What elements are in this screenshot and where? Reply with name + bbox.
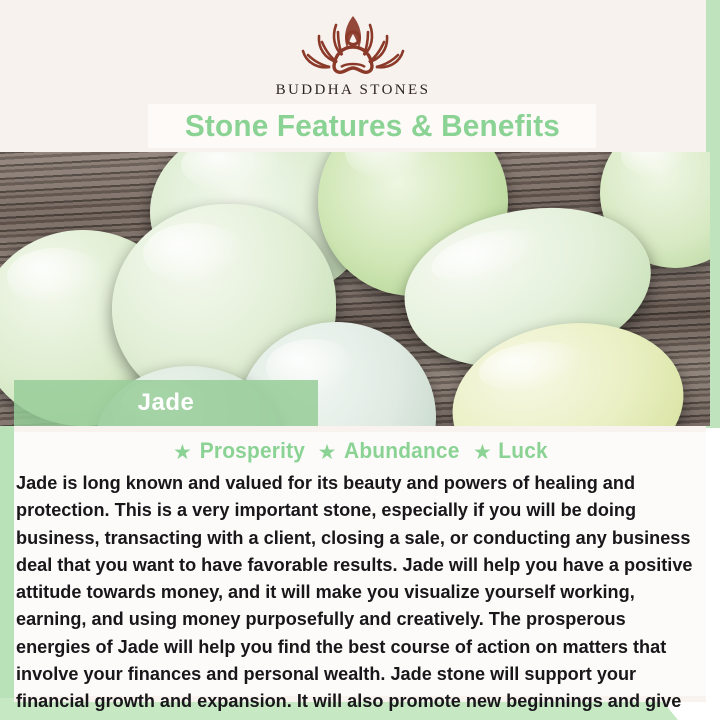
stone-benefits-poster: BUDDHA STONES Stone Features & Benefits … xyxy=(0,0,720,720)
page-title: Stone Features & Benefits xyxy=(184,108,559,144)
description-text: Jade is long known and valued for its be… xyxy=(16,469,694,720)
benefits-list: ★Prosperity★Abundance★Luck xyxy=(14,438,706,465)
benefit-item-abundance: Abundance xyxy=(344,438,460,464)
title-band: Stone Features & Benefits xyxy=(148,104,596,148)
star-icon: ★ xyxy=(318,440,337,465)
content-inner: ★Prosperity★Abundance★Luck Jade is long … xyxy=(14,432,706,696)
star-icon: ★ xyxy=(473,440,492,465)
stone-name-label: Jade xyxy=(138,389,195,417)
brand-name: BUDDHA STONES xyxy=(0,82,706,99)
benefit-item-luck: Luck xyxy=(498,438,548,464)
lotus-meditation-icon xyxy=(290,12,416,80)
stone-photo: Jade xyxy=(0,152,710,426)
stone-name-band: Jade xyxy=(14,380,318,426)
content-panel: ★Prosperity★Abundance★Luck Jade is long … xyxy=(14,426,706,702)
star-icon: ★ xyxy=(173,440,192,465)
benefit-item-prosperity: Prosperity xyxy=(200,438,305,464)
brand-logo: BUDDHA STONES xyxy=(0,12,706,99)
